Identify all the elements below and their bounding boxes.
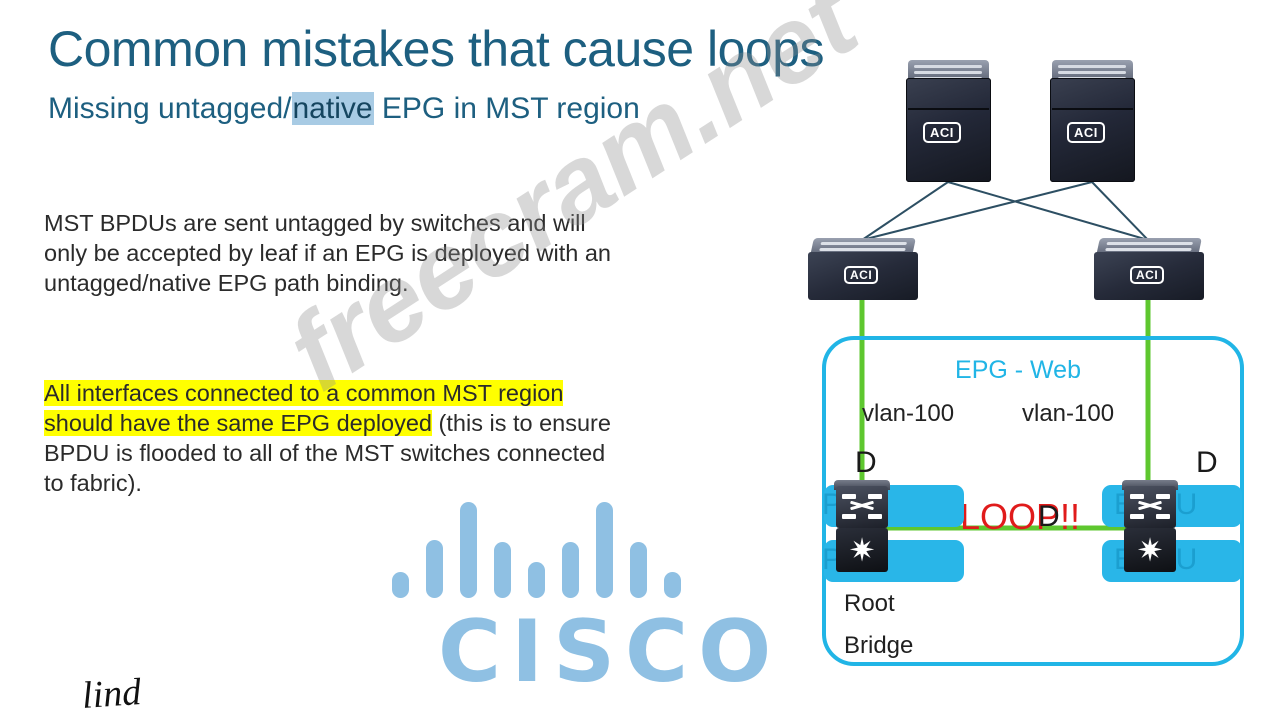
subtitle-text-after: EPG in MST region	[374, 92, 640, 125]
mst-switch-right: ✷	[1122, 480, 1178, 572]
aci-logo-icon: ACI	[923, 122, 961, 143]
body-paragraph-2: All interfaces connected to a common MST…	[44, 378, 624, 498]
handwritten-signature: lind	[81, 670, 143, 708]
port-role-left-inner: D	[1038, 500, 1060, 534]
loop-warning-label: LOOP!!	[940, 496, 1100, 538]
vlan-label-right: vlan-100	[1022, 400, 1114, 428]
aci-logo-icon: ACI	[1067, 122, 1105, 143]
vlan-label-left: vlan-100	[862, 400, 954, 428]
port-role-left-top: D	[855, 446, 877, 480]
aci-logo-icon: ACI	[1130, 266, 1164, 284]
cisco-bridge-bars-icon	[392, 498, 792, 598]
root-bridge-label-line2: Bridge	[844, 632, 913, 660]
spine-chassis-divider	[1052, 108, 1133, 110]
subtitle-selected-word: native	[292, 92, 374, 125]
subtitle-text-before: Missing untagged/	[48, 92, 292, 125]
aci-topology-diagram: EPG - Web vlan-100 vlan-100 LOOP!! D D D…	[800, 60, 1269, 708]
mst-star-icon: ✷	[1134, 534, 1166, 566]
leaf-switch-1: ACI	[808, 238, 918, 300]
spine-switch-2: ACI	[1050, 60, 1135, 182]
page-title: Common mistakes that cause loops	[48, 24, 824, 75]
cisco-wordmark: CISCO	[438, 602, 781, 702]
mst-chassis-upper	[1124, 486, 1176, 528]
spine-chassis-divider	[908, 108, 989, 110]
mst-switch-left: ✷	[834, 480, 890, 572]
epg-label: EPG - Web	[800, 356, 1236, 385]
root-bridge-label-line1: Root	[844, 590, 895, 618]
mst-star-icon: ✷	[846, 534, 878, 566]
spine-switch-1: ACI	[906, 60, 991, 182]
body-paragraph-1: MST BPDUs are sent untagged by switches …	[44, 208, 624, 298]
leaf-switch-2: ACI	[1094, 238, 1204, 300]
page-subtitle: Missing untagged/native EPG in MST regio…	[48, 92, 640, 125]
port-role-right-top: D	[1196, 446, 1218, 480]
cisco-logo: CISCO	[392, 498, 792, 688]
aci-logo-icon: ACI	[844, 266, 878, 284]
slide-canvas: Common mistakes that cause loops Missing…	[0, 0, 1269, 708]
mst-chassis-upper	[836, 486, 888, 528]
